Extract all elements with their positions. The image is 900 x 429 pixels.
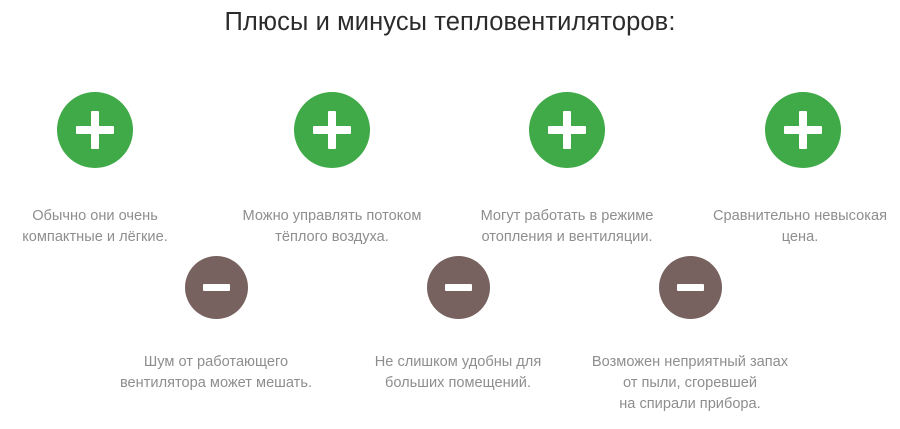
minus-glyph (203, 284, 230, 291)
caption-line: Могут работать в режиме (463, 206, 671, 227)
minus-circle-icon (427, 256, 490, 319)
caption-line: больших помещений. (355, 373, 561, 394)
caption-line: тёплого воздуха. (228, 227, 436, 248)
caption-line: Можно управлять потоком (228, 206, 436, 227)
pro-caption: Сравнительно невысокая цена. (700, 206, 900, 248)
caption-line: Возможен неприятный запах (583, 352, 797, 373)
plus-circle-icon (765, 92, 841, 168)
con-caption: Возможен неприятный запах от пыли, сгоре… (583, 352, 797, 415)
caption-line: Не слишком удобны для (355, 352, 561, 373)
plus-glyph (313, 111, 351, 149)
minus-circle-icon (185, 256, 248, 319)
plus-glyph (784, 111, 822, 149)
pro-caption: Могут работать в режиме отопления и вент… (463, 206, 671, 248)
pro-caption: Обычно они очень компактные и лёгкие. (5, 206, 185, 248)
caption-line: Обычно они очень (5, 206, 185, 227)
plus-glyph (548, 111, 586, 149)
caption-line: на спирали прибора. (583, 394, 797, 415)
plus-circle-icon (294, 92, 370, 168)
caption-line: компактные и лёгкие. (5, 227, 185, 248)
caption-line: вентилятора может мешать. (118, 373, 314, 394)
caption-line: цена. (700, 227, 900, 248)
plus-circle-icon (57, 92, 133, 168)
caption-line: Сравнительно невысокая (700, 206, 900, 227)
page-title: Плюсы и минусы тепловентиляторов: (0, 6, 900, 38)
minus-glyph (677, 284, 704, 291)
minus-glyph (445, 284, 472, 291)
pro-caption: Можно управлять потоком тёплого воздуха. (228, 206, 436, 248)
minus-circle-icon (659, 256, 722, 319)
caption-line: отопления и вентиляции. (463, 227, 671, 248)
con-caption: Не слишком удобны для больших помещений. (355, 352, 561, 394)
caption-line: от пыли, сгоревшей (583, 373, 797, 394)
infographic-pros-cons: Плюсы и минусы тепловентиляторов: Обычно… (0, 0, 900, 429)
caption-line: Шум от работающего (118, 352, 314, 373)
plus-glyph (76, 111, 114, 149)
con-caption: Шум от работающего вентилятора может меш… (118, 352, 314, 394)
plus-circle-icon (529, 92, 605, 168)
